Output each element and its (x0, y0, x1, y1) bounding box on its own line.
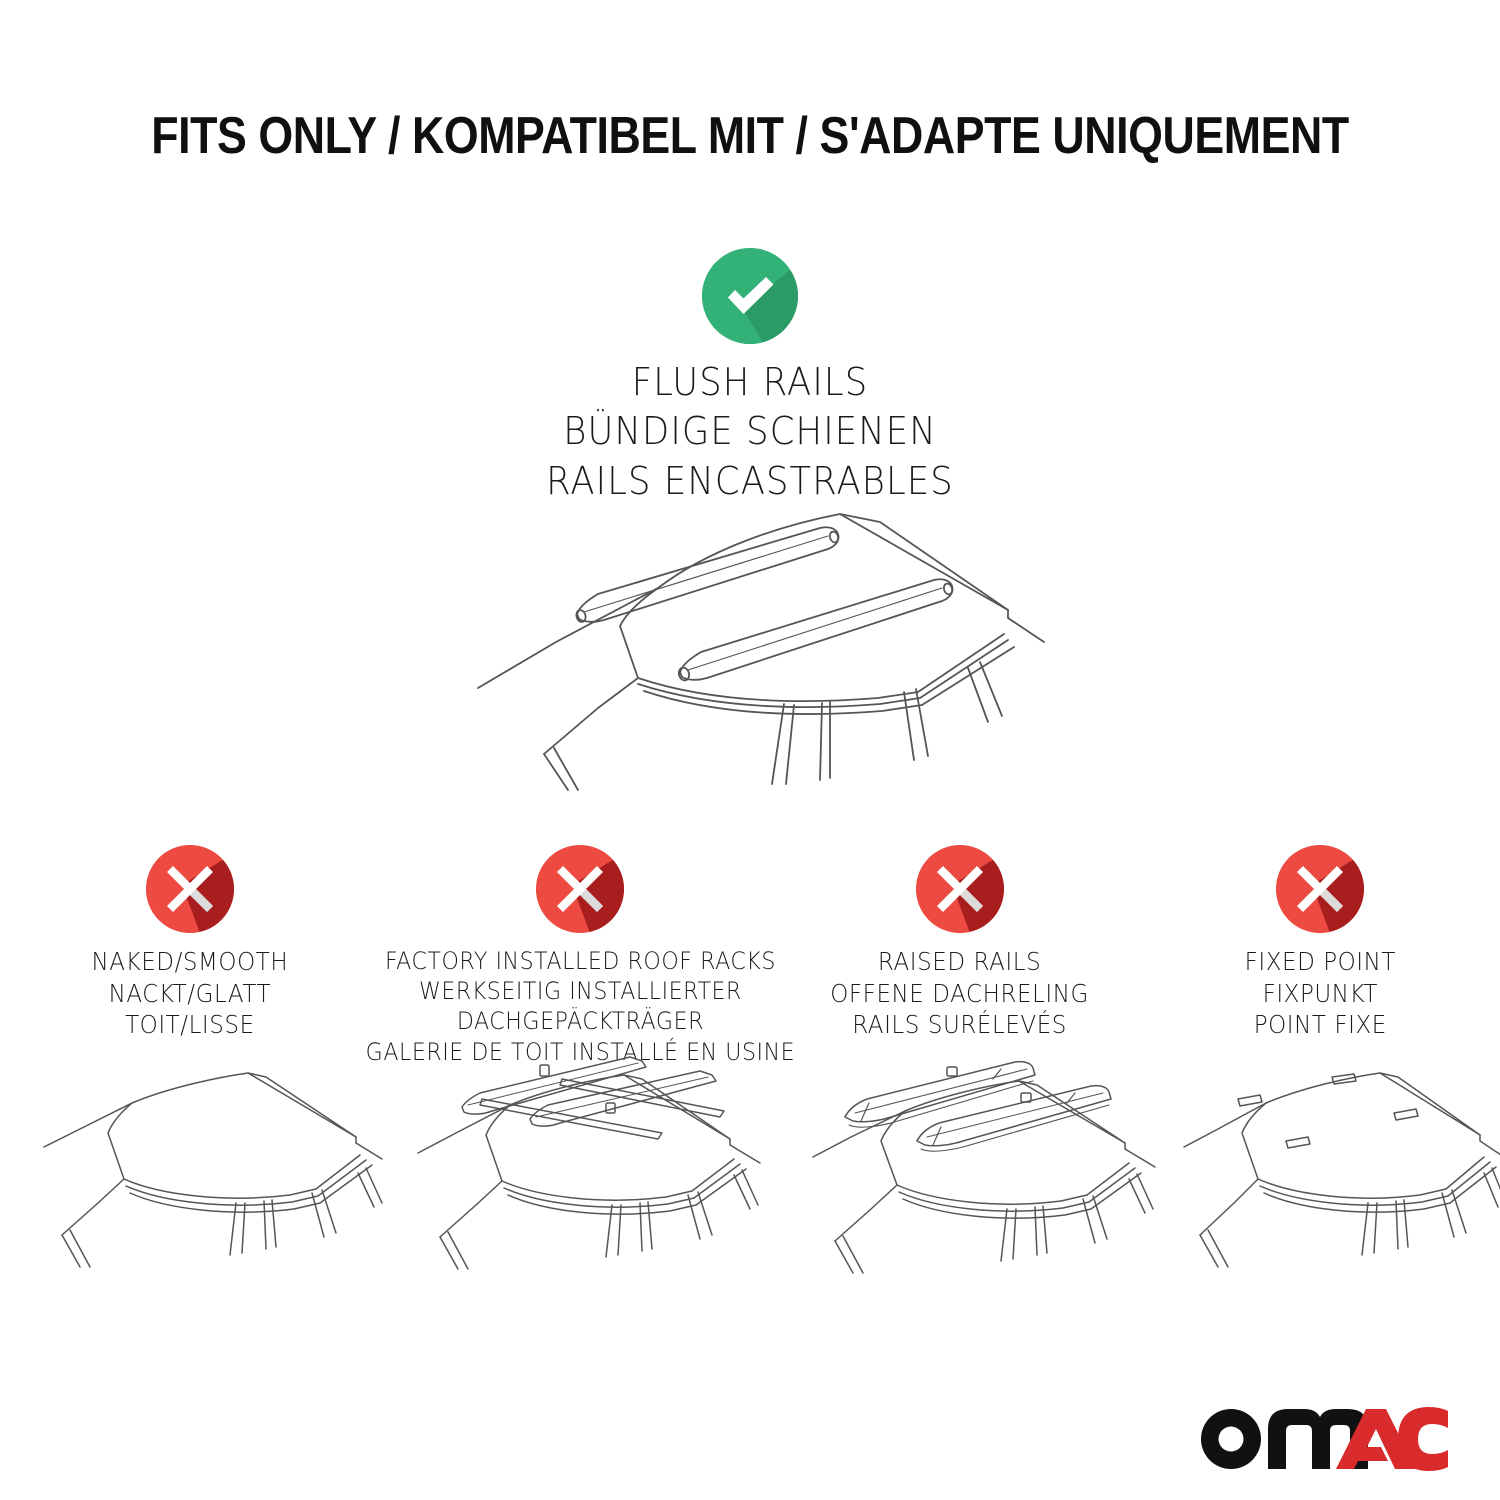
incompatible-label-en: NAKED/SMOOTH (92, 946, 289, 978)
incompatible-item-fixed-point: FIXED POINT FIXPUNKT POINT FIXE (1140, 845, 1500, 1067)
car-roof-flush-rails-illustration (448, 492, 1068, 792)
incompatible-label-en: FACTORY INSTALLED ROOF RACKS (365, 946, 795, 976)
car-roof-raised-rails-illustration (805, 1055, 1185, 1290)
x-circle-icon (146, 845, 234, 933)
incompatible-labels: FACTORY INSTALLED ROOF RACKS WERKSEITIG … (347, 946, 814, 1067)
incompatible-label-fr: RAILS SURÉLEVÉS (831, 1009, 1090, 1041)
compatible-label-en: FLUSH RAILS (285, 358, 1215, 407)
x-circle-icon (1276, 845, 1364, 933)
incompatible-labels: FIXED POINT FIXPUNKT POINT FIXE (1238, 946, 1403, 1041)
incompatible-item-raised-rails: RAISED RAILS OFFENE DACHRELING RAILS SUR… (780, 845, 1140, 1067)
logo-letter-c (1398, 1407, 1448, 1471)
incompatible-label-fr: POINT FIXE (1244, 1009, 1395, 1041)
logo-letter-o (1201, 1409, 1261, 1469)
incompatible-label-de-2: DACHGEPÄCKTRÄGER (365, 1006, 795, 1036)
car-roof-bare-illustration (40, 1055, 400, 1290)
check-circle-icon (702, 248, 798, 344)
incompatible-labels: RAISED RAILS OFFENE DACHRELING RAILS SUR… (819, 946, 1100, 1041)
incompatible-label-fr: TOIT/LISSE (92, 1009, 289, 1041)
incompatible-label-de: OFFENE DACHRELING (831, 978, 1090, 1010)
compatible-labels: FLUSH RAILS BÜNDIGE SCHIENEN RAILS ENCAS… (250, 358, 1250, 506)
incompatible-label-de-1: WERKSEITIG INSTALLIERTER (365, 976, 795, 1006)
incompatible-label-en: RAISED RAILS (831, 946, 1090, 978)
x-circle-icon (536, 845, 624, 933)
compatible-section: FLUSH RAILS BÜNDIGE SCHIENEN RAILS ENCAS… (250, 248, 1250, 506)
incompatible-section: NAKED/SMOOTH NACKT/GLATT TOIT/LISSE FACT… (0, 845, 1500, 1067)
car-roof-fixed-point-illustration (1180, 1055, 1500, 1290)
incompatible-label-de: FIXPUNKT (1244, 978, 1395, 1010)
omac-logo (1198, 1402, 1448, 1472)
incompatible-labels: NAKED/SMOOTH NACKT/GLATT TOIT/LISSE (83, 946, 297, 1041)
car-roof-factory-racks-illustration (410, 1055, 790, 1290)
incompatible-label-en: FIXED POINT (1244, 946, 1395, 978)
incompatible-item-naked-smooth: NAKED/SMOOTH NACKT/GLATT TOIT/LISSE (0, 845, 380, 1067)
incompatible-label-de: NACKT/GLATT (92, 978, 289, 1010)
page-title: FITS ONLY / KOMPATIBEL MIT / S'ADAPTE UN… (105, 106, 1395, 166)
incompatible-item-factory-roof-racks: FACTORY INSTALLED ROOF RACKS WERKSEITIG … (380, 845, 780, 1067)
compatible-label-de: BÜNDIGE SCHIENEN (285, 407, 1215, 456)
compatible-badge-wrap (250, 248, 1250, 344)
x-circle-icon (916, 845, 1004, 933)
